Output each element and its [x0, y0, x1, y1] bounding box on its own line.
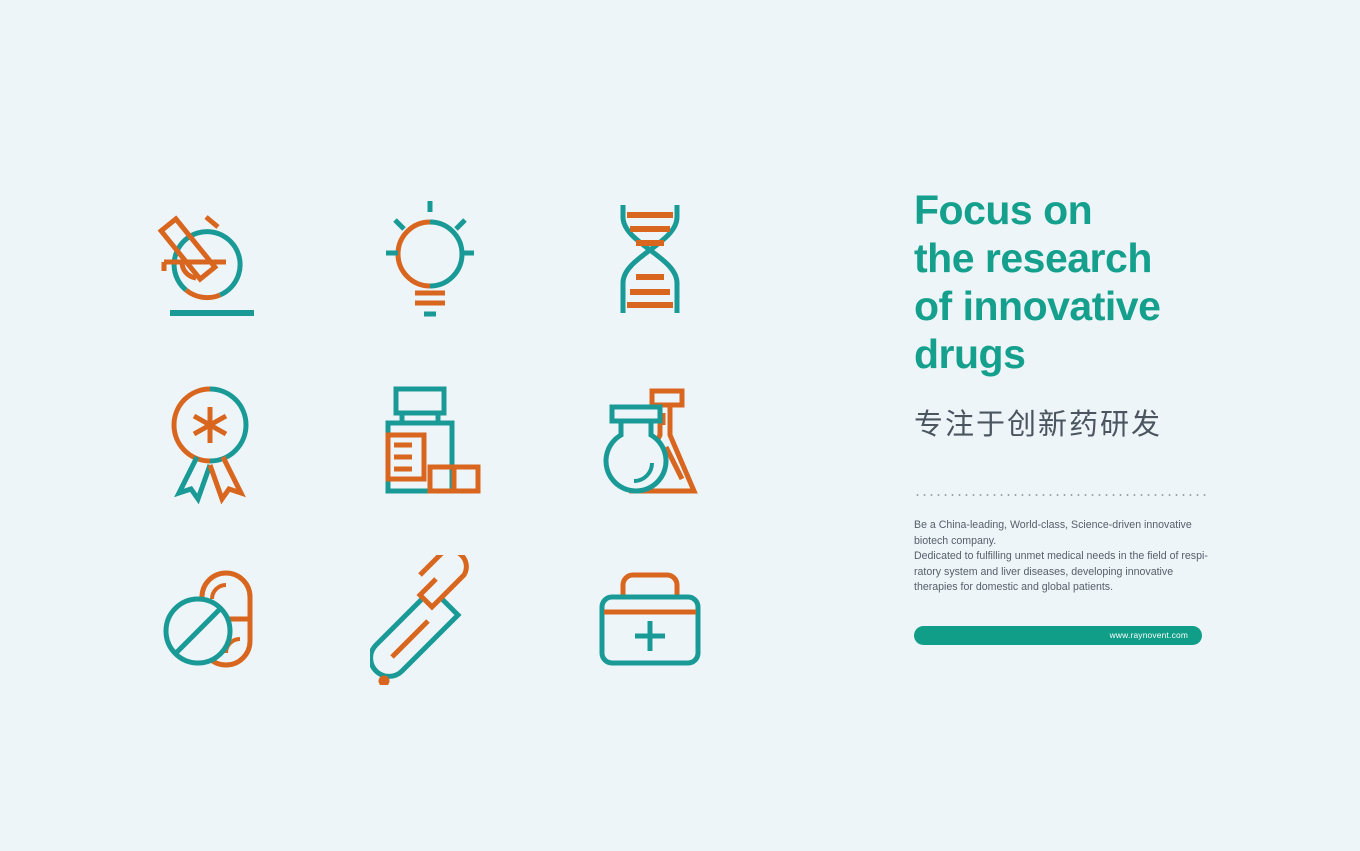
text-column: Focus on the research of innovative drug…	[914, 186, 1214, 645]
icon-cell-pill-bottle	[370, 350, 590, 530]
icon-cell-lightbulb	[370, 170, 590, 350]
dropper-icon	[370, 555, 490, 685]
dna-helix-icon	[590, 195, 710, 325]
dotted-divider	[914, 494, 1210, 496]
website-url-button[interactable]: www.raynovent.com	[914, 626, 1202, 645]
award-ribbon-icon	[150, 375, 270, 505]
subtitle-chinese: 专注于创新药研发	[914, 406, 1214, 444]
icon-cell-flasks	[590, 350, 810, 530]
website-url-label: www.raynovent.com	[1110, 630, 1188, 640]
icon-cell-dropper	[370, 530, 590, 710]
icon-cell-dna	[590, 170, 810, 350]
icon-cell-microscope	[150, 170, 370, 350]
poster-canvas: Focus on the research of innovative drug…	[0, 0, 1360, 851]
lightbulb-icon	[370, 195, 490, 325]
pill-bottle-icon	[370, 375, 490, 505]
icon-grid	[150, 170, 770, 710]
icon-cell-award	[150, 350, 370, 530]
icon-cell-pills	[150, 530, 370, 710]
body-paragraph: Be a China-leading, World-class, Science…	[914, 518, 1214, 596]
first-aid-kit-icon	[590, 555, 710, 685]
lab-flasks-icon	[590, 375, 710, 505]
pills-capsule-icon	[150, 555, 270, 685]
microscope-icon	[150, 195, 270, 325]
page-title: Focus on the research of innovative drug…	[914, 186, 1214, 378]
icon-cell-first-aid	[590, 530, 810, 710]
